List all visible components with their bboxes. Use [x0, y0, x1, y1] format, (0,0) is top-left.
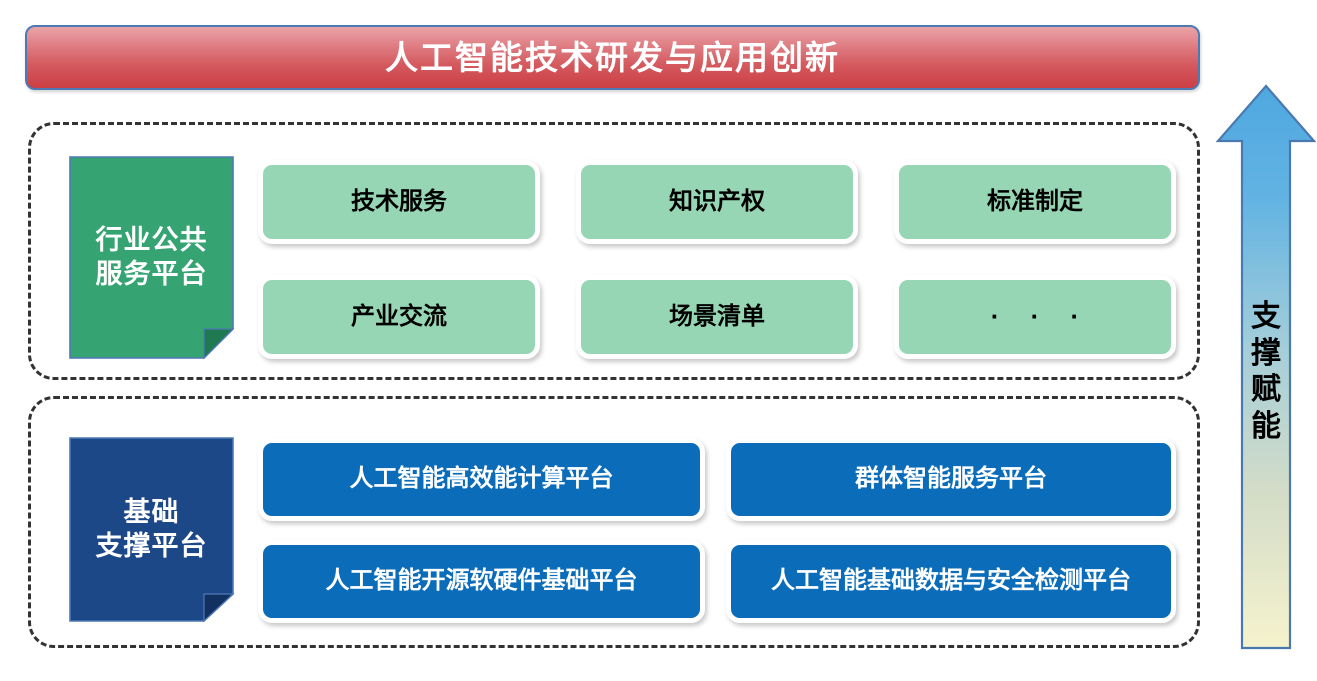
- card-standard-setting-label: 标准制定: [987, 188, 1083, 217]
- arrow-label-char-0: 支: [1216, 299, 1316, 336]
- page-title: 人工智能技术研发与应用创新: [385, 41, 840, 74]
- card-ai-base-data-security-testing-platform[interactable]: 人工智能基础数据与安全检测平台: [726, 540, 1176, 623]
- card-scenario-list[interactable]: 场景清单: [576, 275, 858, 359]
- ellipsis-icon: · · ·: [979, 301, 1091, 332]
- support-empower-arrow: 支 撑 赋 能: [1216, 84, 1316, 650]
- arrow-label-char-2: 赋: [1216, 372, 1316, 409]
- arrow-label-char-3: 能: [1216, 409, 1316, 446]
- card-industry-exchange[interactable]: 产业交流: [258, 275, 540, 359]
- card-ai-open-source-hardware-software-platform[interactable]: 人工智能开源软硬件基础平台: [258, 540, 705, 623]
- card-ai-open-source-hardware-software-platform-label: 人工智能开源软硬件基础平台: [326, 567, 638, 596]
- label-public-service-platform-text: 行业公共 服务平台: [96, 224, 208, 292]
- card-industry-exchange-label: 产业交流: [351, 303, 447, 332]
- label-base-support-platform: 基础 支撑平台: [70, 438, 233, 621]
- card-crowd-intelligence-service-platform[interactable]: 群体智能服务平台: [726, 438, 1176, 521]
- card-ai-high-performance-computing-platform[interactable]: 人工智能高效能计算平台: [258, 438, 705, 521]
- card-ai-high-performance-computing-platform-label: 人工智能高效能计算平台: [350, 465, 614, 494]
- card-technical-service[interactable]: 技术服务: [258, 160, 540, 244]
- card-ai-base-data-security-testing-platform-label: 人工智能基础数据与安全检测平台: [771, 567, 1131, 596]
- label-base-support-platform-text: 基础 支撑平台: [96, 496, 208, 564]
- card-intellectual-property[interactable]: 知识产权: [576, 160, 858, 244]
- card-more-ellipsis[interactable]: · · ·: [894, 275, 1176, 359]
- support-empower-arrow-label: 支 撑 赋 能: [1216, 299, 1316, 445]
- page-title-banner: 人工智能技术研发与应用创新: [25, 25, 1200, 90]
- card-standard-setting[interactable]: 标准制定: [894, 160, 1176, 244]
- card-scenario-list-label: 场景清单: [669, 303, 765, 332]
- arrow-label-char-1: 撑: [1216, 336, 1316, 373]
- card-technical-service-label: 技术服务: [351, 188, 447, 217]
- label-public-service-platform: 行业公共 服务平台: [70, 157, 233, 358]
- card-crowd-intelligence-service-platform-label: 群体智能服务平台: [855, 465, 1047, 494]
- card-intellectual-property-label: 知识产权: [669, 188, 765, 217]
